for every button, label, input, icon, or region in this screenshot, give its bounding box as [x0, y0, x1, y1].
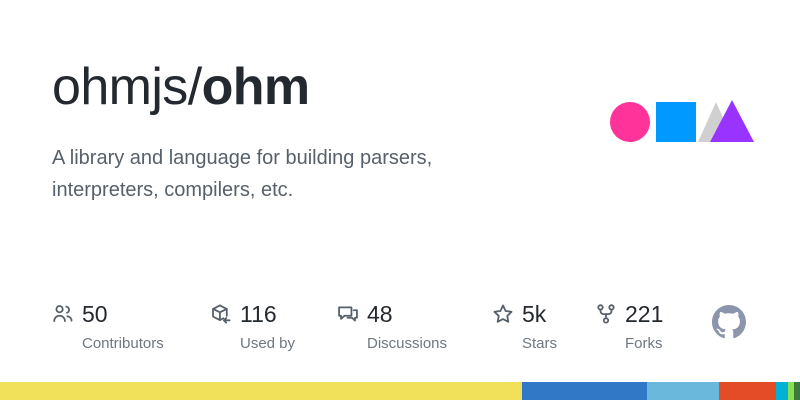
stat-used-by-label: Used by	[240, 334, 295, 354]
repo-owner: ohmjs	[52, 58, 188, 116]
stat-contributors-label: Contributors	[82, 334, 164, 354]
stat-discussions: 48 Discussions	[337, 300, 447, 358]
stat-discussions-top: 48	[337, 300, 447, 328]
language-segment-typescript	[522, 382, 647, 400]
github-octocat-icon	[712, 305, 746, 339]
logo-circle	[610, 102, 650, 142]
stat-discussions-label: Discussions	[367, 334, 447, 354]
comment-discussion-icon	[337, 303, 359, 325]
stat-contributors-value: 50	[82, 300, 108, 328]
stat-forks: 221 Forks	[595, 300, 663, 358]
language-bar	[0, 382, 800, 400]
package-dependents-icon	[210, 303, 232, 325]
stat-used-by-top: 116	[210, 300, 295, 328]
stat-forks-value: 221	[625, 300, 663, 328]
stat-contributors: 50 Contributors	[52, 300, 164, 358]
language-segment-ohm	[647, 382, 719, 400]
repo-name: ohm	[202, 58, 310, 116]
language-segment-other	[794, 382, 800, 400]
language-segment-javascript	[0, 382, 522, 400]
page-title: ohmjs/ohm	[52, 56, 310, 118]
stat-stars-top: 5k	[492, 300, 557, 328]
stat-contributors-top: 50	[52, 300, 164, 328]
stat-used-by-value: 116	[240, 300, 277, 328]
logo-square	[656, 102, 696, 142]
language-segment-html	[719, 382, 776, 400]
ohm-logo	[608, 98, 756, 146]
repo-description: A library and language for building pars…	[52, 142, 522, 206]
repo-separator: /	[188, 58, 202, 116]
repo-forked-icon	[595, 303, 617, 325]
stat-forks-label: Forks	[625, 334, 663, 354]
stat-discussions-value: 48	[367, 300, 393, 328]
github-social-preview-card: ohmjs/ohm A library and language for bui…	[0, 0, 800, 400]
language-segment-css	[776, 382, 788, 400]
repo-stats: 50 Contributors 116 Used by	[52, 300, 712, 360]
people-icon	[52, 303, 74, 325]
stat-used-by: 116 Used by	[210, 300, 295, 358]
stat-stars-value: 5k	[522, 300, 546, 328]
stat-stars: 5k Stars	[492, 300, 557, 358]
stat-stars-label: Stars	[522, 334, 557, 354]
star-icon	[492, 303, 514, 325]
stat-forks-top: 221	[595, 300, 663, 328]
